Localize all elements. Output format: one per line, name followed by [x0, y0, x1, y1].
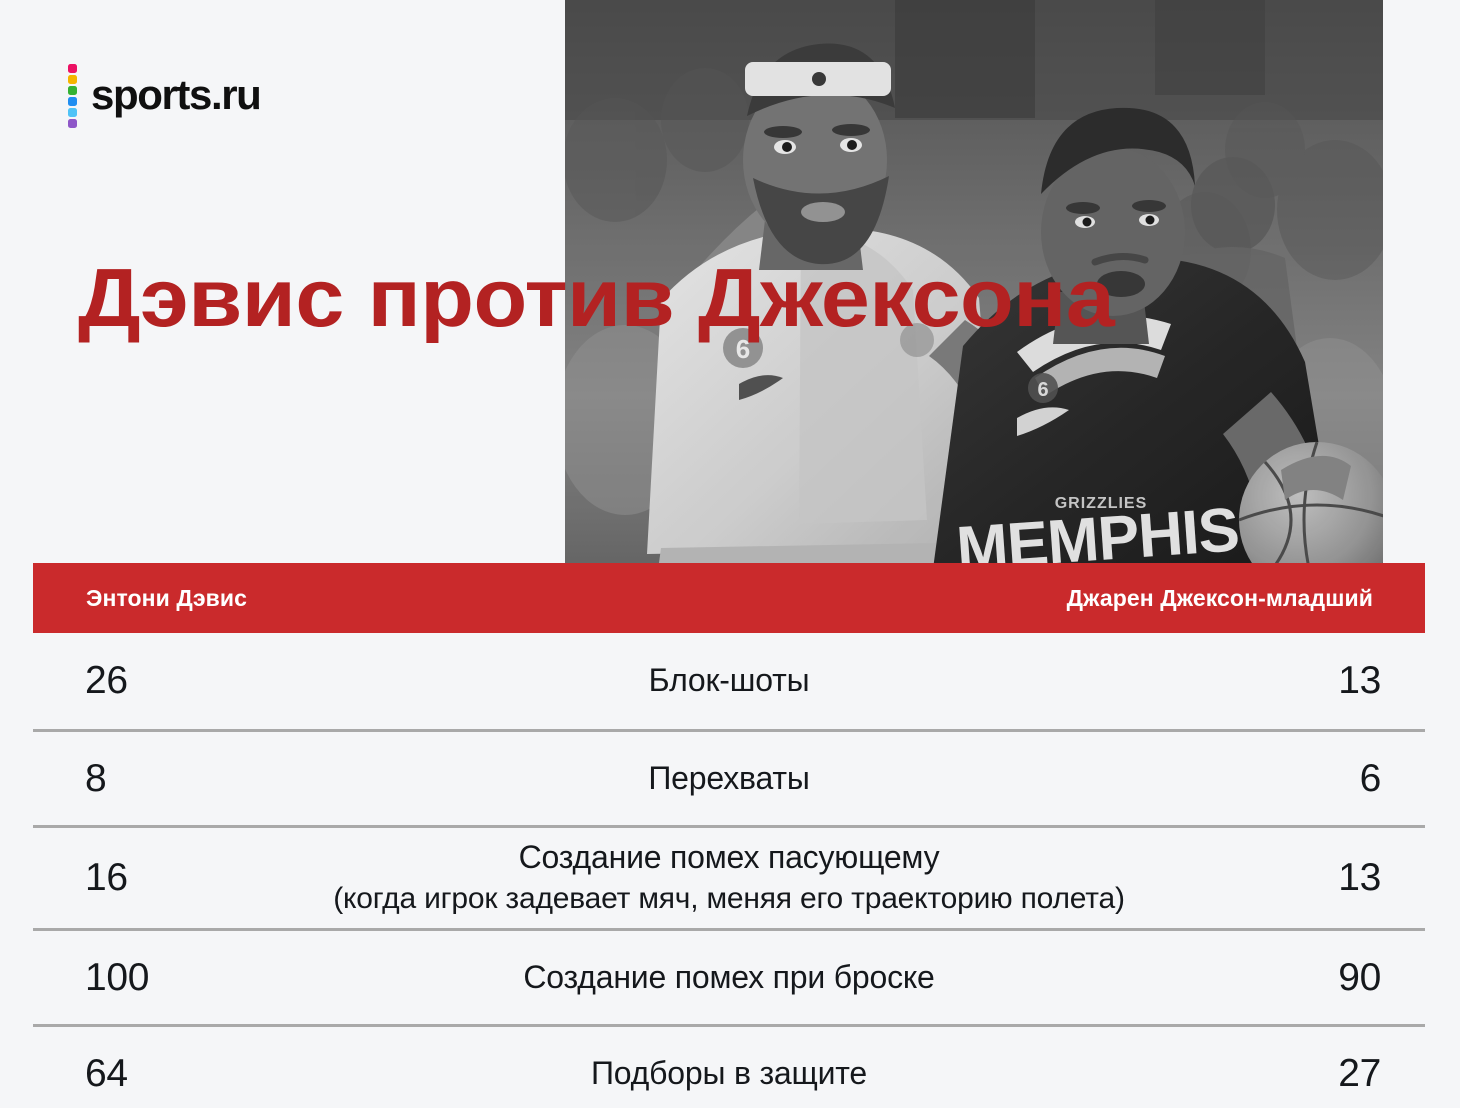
- logo-dot-1: [68, 64, 77, 73]
- page-title: Дэвис против Джексона: [78, 256, 1114, 339]
- stat-value-left: 8: [33, 757, 253, 801]
- stat-value-right: 6: [1205, 757, 1425, 801]
- stat-value-right: 90: [1205, 956, 1425, 1000]
- logo-wordmark: sports.ru: [91, 74, 260, 116]
- stat-value-right: 13: [1205, 659, 1425, 703]
- stat-label: Перехваты: [253, 759, 1205, 798]
- stat-value-right: 13: [1205, 856, 1425, 900]
- logo-dot-2: [68, 75, 77, 84]
- stat-label: Подборы в защите: [253, 1054, 1205, 1093]
- sports-ru-logo[interactable]: sports.ru: [68, 62, 260, 128]
- stat-label-main: Создание помех пасующему: [263, 838, 1195, 877]
- stat-label: Создание помех при броске: [253, 958, 1205, 997]
- infographic-page: 6: [0, 0, 1460, 1108]
- table-row: 26 Блок-шоты 13: [33, 633, 1425, 729]
- logo-dot-4: [68, 97, 77, 106]
- stat-value-left: 26: [33, 659, 253, 703]
- stat-value-right: 27: [1205, 1052, 1425, 1096]
- stat-label-sub: (когда игрок задевает мяч, меняя его тра…: [263, 879, 1195, 918]
- header-player-left: Энтони Дэвис: [86, 585, 247, 612]
- header-player-right: Джарен Джексон-младший: [1067, 585, 1373, 612]
- stat-label-main: Блок-шоты: [263, 661, 1195, 700]
- logo-dots-icon: [68, 62, 77, 128]
- stat-value-left: 100: [33, 956, 253, 1000]
- stat-value-left: 64: [33, 1052, 253, 1096]
- logo-dot-3: [68, 86, 77, 95]
- stat-label-main: Перехваты: [263, 759, 1195, 798]
- players-header-bar: Энтони Дэвис Джарен Джексон-младший: [33, 563, 1425, 633]
- stat-label: Блок-шоты: [253, 661, 1205, 700]
- table-row: 8 Перехваты 6: [33, 729, 1425, 825]
- stat-label: Создание помех пасующему (когда игрок за…: [253, 838, 1205, 918]
- logo-dot-5: [68, 108, 77, 117]
- table-row: 16 Создание помех пасующему (когда игрок…: [33, 825, 1425, 928]
- table-row: 100 Создание помех при броске 90: [33, 928, 1425, 1024]
- stat-value-left: 16: [33, 856, 253, 900]
- stat-label-main: Создание помех при броске: [263, 958, 1195, 997]
- table-row: 64 Подборы в защите 27: [33, 1024, 1425, 1108]
- stat-label-main: Подборы в защите: [263, 1054, 1195, 1093]
- logo-dot-6: [68, 119, 77, 128]
- stats-table: 26 Блок-шоты 13 8 Перехваты 6 16 Создани…: [33, 633, 1425, 1108]
